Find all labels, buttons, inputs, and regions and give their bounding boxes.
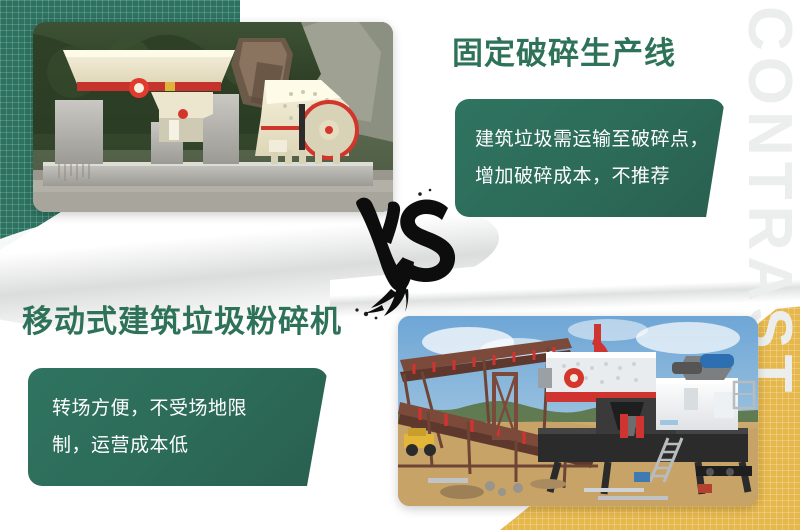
stationary-callout-line-1: 建筑垃圾需运输至破碎点， [475, 121, 725, 158]
comparison-infographic: CONTRAST [0, 0, 800, 530]
mobile-crusher-callout: 转场方便，不受场地限 制，运营成本低 [28, 368, 328, 486]
mobile-callout-line-1: 转场方便，不受场地限 [52, 390, 328, 427]
mobile-crusher-heading: 移动式建筑垃圾粉碎机 [22, 296, 342, 341]
mobile-callout-line-2: 制，运营成本低 [52, 427, 328, 464]
mobile-crusher-illustration [398, 316, 758, 506]
stationary-plant-photo [33, 22, 393, 212]
stationary-plant-heading: 固定破碎生产线 [452, 28, 676, 73]
stationary-plant-illustration [33, 22, 393, 212]
stationary-callout-line-2: 增加破碎成本，不推荐 [475, 158, 725, 195]
stationary-plant-callout: 建筑垃圾需运输至破碎点， 增加破碎成本，不推荐 [455, 99, 725, 217]
mobile-crusher-photo [398, 316, 758, 506]
